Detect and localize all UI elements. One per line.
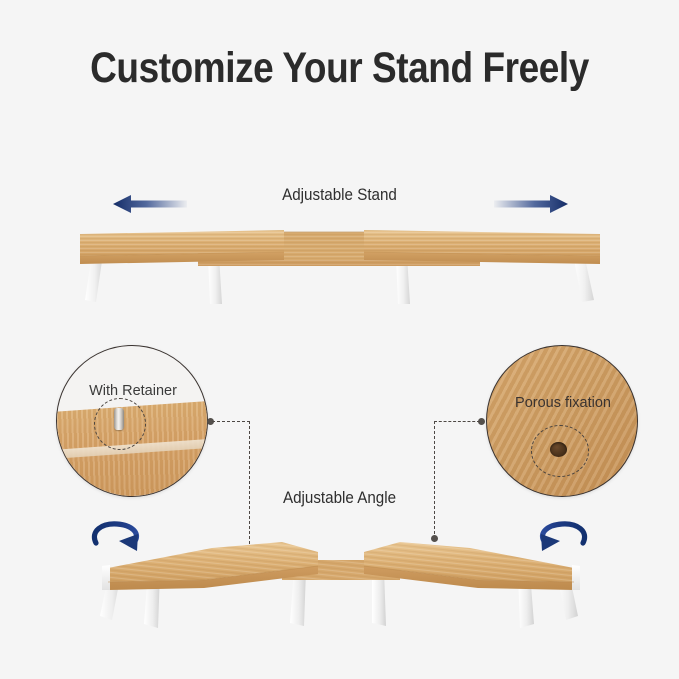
right-wing [364, 542, 580, 590]
infographic-canvas: Customize Your Stand Freely Adjustable S… [0, 0, 679, 679]
adjustable-stand-illustration [76, 216, 604, 306]
right-rim-cap [572, 565, 580, 590]
page-title: Customize Your Stand Freely [48, 44, 632, 93]
left-wing [102, 542, 318, 590]
connector-line-right-horizontal [434, 421, 480, 422]
callout-label-porous: Porous fixation [488, 395, 638, 411]
left-rim-cap [102, 565, 110, 590]
arrow-left-icon [113, 193, 187, 215]
callout-label-retainer: With Retainer [58, 383, 208, 399]
arrow-right-icon [494, 193, 568, 215]
callout-porous-fixation: Porous fixation [486, 345, 638, 497]
hole-icon [550, 442, 567, 457]
connector-line-left-horizontal [212, 421, 250, 422]
adjustable-angle-caption: Adjustable Angle [27, 489, 652, 508]
connector-line-right-vertical [434, 421, 435, 539]
adjustable-angle-illustration [86, 524, 596, 634]
retainer-pin-icon [114, 408, 124, 430]
callout-with-retainer: With Retainer [56, 345, 208, 497]
